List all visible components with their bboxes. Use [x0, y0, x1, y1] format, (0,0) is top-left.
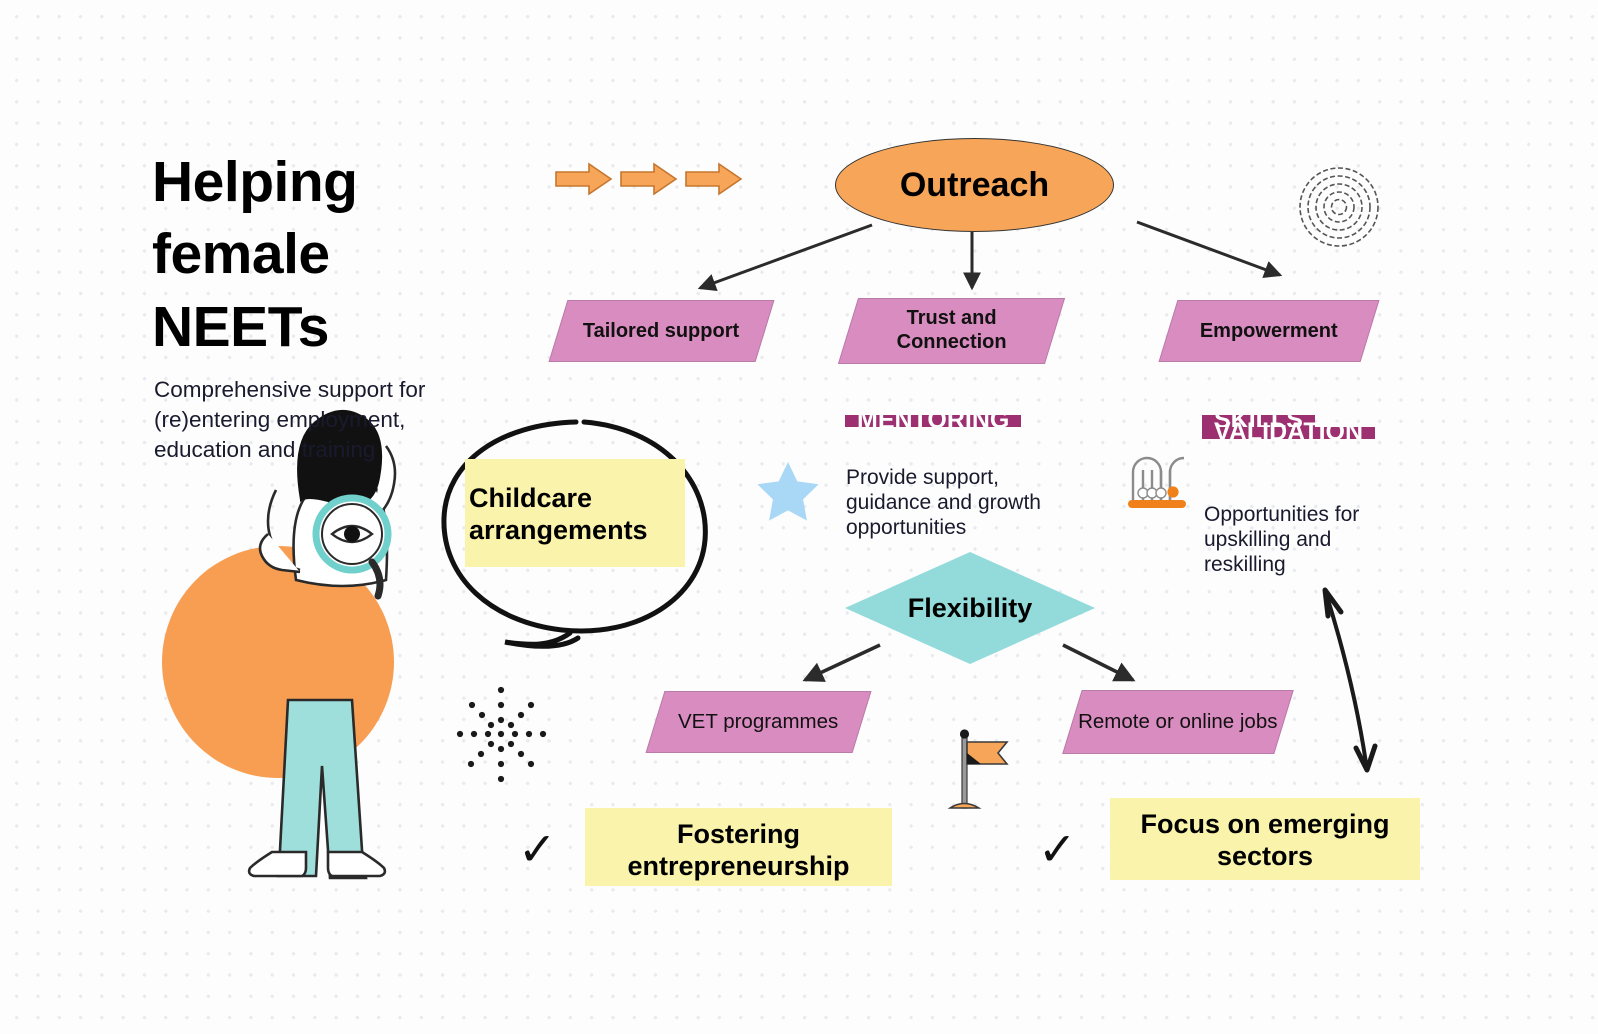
node-outreach[interactable]: Outreach	[835, 138, 1114, 232]
triple-arrow-icon	[556, 164, 741, 194]
page-title: Helping female NEETs	[152, 146, 472, 363]
branch-vet-programmes[interactable]: VET programmes	[646, 691, 872, 753]
newtons-cradle-icon	[1128, 458, 1186, 508]
flag-icon	[950, 729, 1007, 808]
node-childcare-label: Childcare arrangements	[469, 482, 699, 547]
badge-mentoring-title: MENTORING	[845, 415, 1021, 427]
branch-tailored-support[interactable]: Tailored support	[549, 300, 775, 362]
node-outreach-label: Outreach	[900, 166, 1049, 205]
checkmark-icon-fostering: ✓	[518, 826, 557, 872]
dot-burst-icon	[457, 687, 546, 782]
badge-skills-title-line2: VALIDATION	[1202, 427, 1375, 439]
target-icon	[1300, 168, 1378, 246]
badge-mentoring-body: Provide support, guidance and growth opp…	[846, 466, 1086, 540]
star-icon	[757, 462, 818, 521]
connector-outreach-to-tailored	[700, 225, 872, 288]
connector-outreach-to-empowerment	[1137, 222, 1280, 275]
node-flexibility-label: Flexibility	[845, 552, 1095, 664]
badge-skills-body: Opportunities for upskilling and reskill…	[1204, 503, 1399, 577]
outcome-focus-emerging-sectors: Focus on emerging sectors	[1110, 808, 1420, 873]
branch-label: Remote or online jobs	[1078, 710, 1277, 734]
branch-label: Tailored support	[583, 320, 739, 343]
page-subtitle: Comprehensive support for (re)entering e…	[154, 375, 454, 465]
badge-skills-validation[interactable]: SKILLS VALIDATION	[1202, 415, 1375, 439]
branch-trust-and-connection[interactable]: Trust and Connection	[838, 298, 1065, 364]
branch-empowerment[interactable]: Empowerment	[1159, 300, 1380, 362]
node-flexibility[interactable]: Flexibility	[845, 552, 1095, 664]
branch-label: Trust and Connection	[849, 307, 1054, 354]
woman-with-magnifier-illustration	[162, 410, 395, 878]
branch-label: Empowerment	[1200, 320, 1338, 343]
outcome-fostering-entrepreneurship: Fostering entrepreneurship	[585, 818, 892, 883]
branch-label: VET programmes	[678, 710, 838, 734]
curved-double-arrow-icon	[1325, 590, 1375, 770]
checkmark-icon-focus: ✓	[1038, 826, 1077, 872]
badge-mentoring[interactable]: MENTORING	[845, 415, 1021, 427]
infographic-canvas: Helping female NEETs Comprehensive suppo…	[0, 0, 1598, 1034]
branch-remote-or-online-jobs[interactable]: Remote or online jobs	[1062, 690, 1294, 754]
